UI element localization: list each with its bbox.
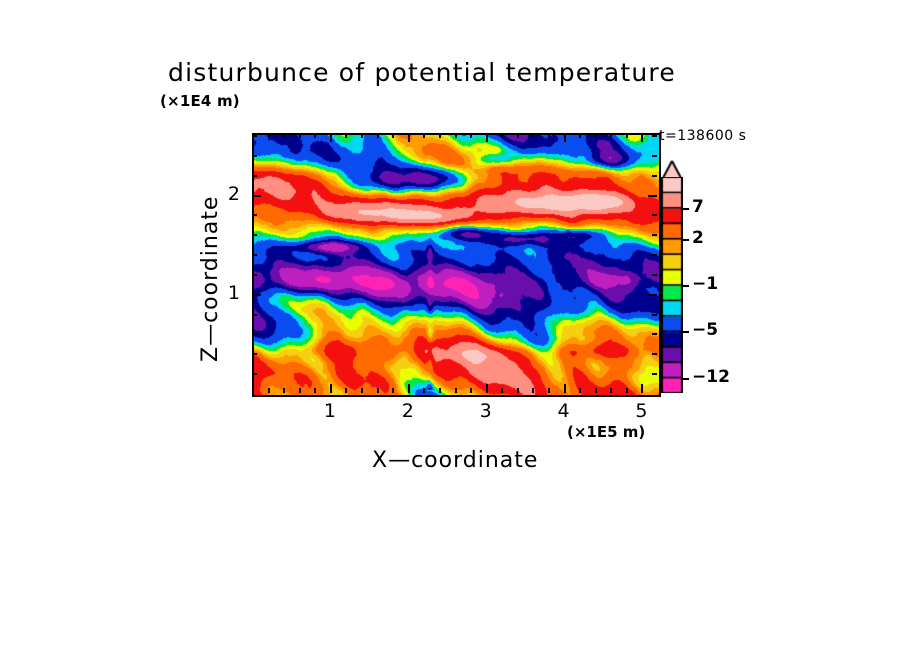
y-minor-tick-right — [652, 175, 657, 177]
x-minor-tick — [532, 388, 534, 393]
x-minor-tick — [268, 388, 270, 393]
x-tick-label: 4 — [544, 400, 584, 422]
x-major-tick — [641, 384, 643, 393]
x-minor-tick — [439, 388, 441, 393]
x-minor-tick — [517, 388, 519, 393]
x-minor-tick-top — [299, 133, 301, 138]
y-minor-tick-right — [652, 373, 657, 375]
x-minor-tick-top — [345, 133, 347, 138]
x-minor-tick-top — [517, 133, 519, 138]
y-minor-tick — [252, 155, 257, 157]
y-minor-tick — [252, 333, 257, 335]
colorbar-tick — [683, 331, 689, 333]
y-minor-tick — [252, 274, 257, 276]
page-title: disturbunce of potential temperature — [168, 58, 676, 87]
y-minor-tick — [252, 254, 257, 256]
colorbar-tick-label: 7 — [692, 197, 704, 217]
x-minor-tick — [377, 388, 379, 393]
x-axis-unit-label: (×1E5 m) — [567, 423, 645, 441]
y-minor-tick — [252, 135, 257, 137]
x-minor-tick — [579, 388, 581, 393]
x-minor-tick — [470, 388, 472, 393]
y-minor-tick — [252, 314, 257, 316]
x-minor-tick-top — [314, 133, 316, 138]
colorbar-tick-label: −1 — [692, 274, 718, 294]
x-minor-tick — [501, 388, 503, 393]
x-minor-tick — [345, 388, 347, 393]
x-minor-tick-top — [579, 133, 581, 138]
colorbar-tick — [683, 208, 689, 210]
x-minor-tick-top — [377, 133, 379, 138]
figure-canvas: disturbunce of potential temperature (×1… — [0, 0, 904, 654]
x-minor-tick-top — [455, 133, 457, 138]
x-minor-tick — [610, 388, 612, 393]
x-minor-tick — [314, 388, 316, 393]
x-minor-tick — [626, 388, 628, 393]
x-major-tick — [408, 384, 410, 393]
x-minor-tick-top — [626, 133, 628, 138]
contour-field — [254, 135, 659, 395]
colorbar-tick — [683, 239, 689, 241]
x-minor-tick-top — [595, 133, 597, 138]
colorbar-swatches — [661, 177, 683, 393]
x-minor-tick-top — [392, 133, 394, 138]
x-minor-tick-top — [361, 133, 363, 138]
y-minor-tick-right — [652, 254, 657, 256]
x-major-tick-top — [330, 133, 332, 142]
y-minor-tick — [252, 175, 257, 177]
colorbar-tick — [683, 285, 689, 287]
colorbar-tick-label: 2 — [692, 228, 704, 248]
x-minor-tick-top — [610, 133, 612, 138]
x-minor-tick — [423, 388, 425, 393]
y-minor-tick — [252, 353, 257, 355]
x-minor-tick-top — [532, 133, 534, 138]
x-minor-tick-top — [439, 133, 441, 138]
y-minor-tick-right — [652, 155, 657, 157]
y-minor-tick-right — [652, 274, 657, 276]
y-major-tick — [252, 294, 261, 296]
x-minor-tick — [548, 388, 550, 393]
y-minor-tick-right — [652, 135, 657, 137]
x-minor-tick — [455, 388, 457, 393]
y-minor-tick-right — [652, 314, 657, 316]
x-minor-tick — [283, 388, 285, 393]
contour-plot-frame — [252, 133, 661, 397]
x-minor-tick — [361, 388, 363, 393]
x-axis-title: X—coordinate — [372, 448, 538, 473]
colorbar-arrow-icon — [661, 160, 683, 178]
x-minor-tick-top — [283, 133, 285, 138]
y-major-tick-right — [648, 294, 657, 296]
x-tick-label: 3 — [466, 400, 506, 422]
x-minor-tick-top — [470, 133, 472, 138]
y-axis-unit-label: (×1E4 m) — [160, 92, 240, 110]
x-minor-tick-top — [501, 133, 503, 138]
y-minor-tick-right — [652, 214, 657, 216]
x-major-tick-top — [564, 133, 566, 142]
y-minor-tick — [252, 214, 257, 216]
timestamp-annotation: t=138600 s — [659, 128, 746, 144]
x-minor-tick-top — [548, 133, 550, 138]
y-minor-tick — [252, 234, 257, 236]
x-minor-tick-top — [268, 133, 270, 138]
x-major-tick-top — [486, 133, 488, 142]
x-major-tick — [330, 384, 332, 393]
colorbar-tick-label: −12 — [692, 367, 730, 387]
x-minor-tick — [392, 388, 394, 393]
x-minor-tick — [299, 388, 301, 393]
x-major-tick-top — [408, 133, 410, 142]
colorbar-tick-label: −5 — [692, 320, 718, 340]
x-tick-label: 2 — [388, 400, 428, 422]
x-major-tick — [486, 384, 488, 393]
colorbar — [661, 177, 683, 393]
y-minor-tick — [252, 373, 257, 375]
colorbar-tick — [683, 378, 689, 380]
y-major-tick — [252, 195, 261, 197]
x-major-tick-top — [641, 133, 643, 142]
x-minor-tick-top — [423, 133, 425, 138]
x-tick-label: 1 — [310, 400, 350, 422]
x-minor-tick — [595, 388, 597, 393]
x-major-tick — [564, 384, 566, 393]
y-minor-tick-right — [652, 333, 657, 335]
y-minor-tick-right — [652, 353, 657, 355]
y-major-tick-right — [648, 195, 657, 197]
y-minor-tick-right — [652, 234, 657, 236]
y-axis-title: Z—coordinate — [198, 196, 223, 362]
x-tick-label: 5 — [621, 400, 661, 422]
